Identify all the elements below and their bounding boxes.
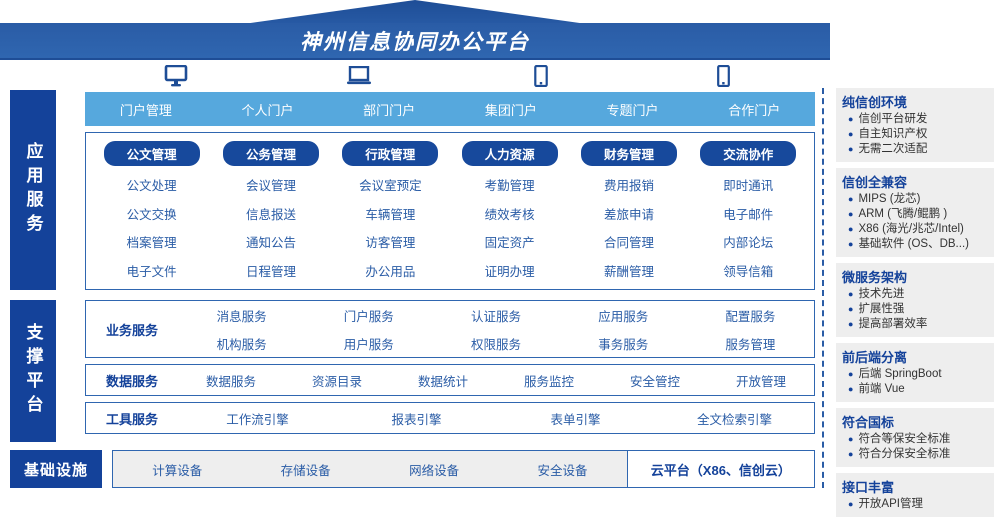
- support-item[interactable]: 开放管理: [708, 371, 814, 390]
- support-data-items: 数据服务资源目录数据统计服务监控安全管控开放管理: [178, 365, 814, 395]
- support-item[interactable]: 认证服务: [432, 306, 559, 325]
- application-column: 会议室预定车辆管理访客管理办公用品: [331, 170, 450, 285]
- sidebar-section: 前后端分离●后端 SpringBoot●前端 Vue: [836, 343, 994, 402]
- sidebar-list-item: ●符合分保安全标准: [842, 447, 988, 462]
- application-item[interactable]: 领导信箱: [689, 261, 808, 280]
- portal-item[interactable]: 个人门户: [207, 100, 329, 119]
- sidebar-item-label: 自主知识产权: [858, 127, 927, 142]
- application-category-pill[interactable]: 公务管理: [223, 141, 319, 166]
- portal-item[interactable]: 合作门户: [693, 100, 815, 119]
- bullet-icon: ●: [848, 142, 853, 157]
- support-item[interactable]: 工作流引擎: [178, 409, 337, 428]
- support-item[interactable]: 数据统计: [390, 371, 496, 390]
- sidebar-list-item: ●MIPS (龙芯): [842, 192, 988, 207]
- support-data-row: 数据服务资源目录数据统计服务监控安全管控开放管理: [178, 365, 814, 395]
- application-column: 考勤管理绩效考核固定资产证明办理: [450, 170, 569, 285]
- support-item[interactable]: 门户服务: [305, 306, 432, 325]
- application-column: 公文处理公文交换档案管理电子文件: [92, 170, 211, 285]
- sidebar-item-label: 扩展性强: [858, 302, 904, 317]
- application-category-pill[interactable]: 财务管理: [581, 141, 677, 166]
- support-item[interactable]: 资源目录: [284, 371, 390, 390]
- sidebar-section-title: 符合国标: [842, 412, 988, 431]
- application-item[interactable]: 内部论坛: [689, 232, 808, 251]
- portal-item[interactable]: 专题门户: [572, 100, 694, 119]
- sidebar-section-title: 前后端分离: [842, 347, 988, 366]
- bullet-icon: ●: [848, 207, 853, 222]
- sidebar-item-label: 技术先进: [858, 287, 904, 302]
- application-item[interactable]: 访客管理: [331, 232, 450, 251]
- sidebar-item-label: X86 (海光/兆芯/Intel): [858, 222, 963, 237]
- sidebar-item-label: 无需二次适配: [858, 142, 927, 157]
- bullet-icon: ●: [848, 367, 853, 382]
- support-item[interactable]: 报表引擎: [337, 409, 496, 428]
- sidebar-section: 信创全兼容●MIPS (龙芯)●ARM (飞腾/鲲鹏 )●X86 (海光/兆芯/…: [836, 168, 994, 257]
- application-item[interactable]: 薪酬管理: [569, 261, 688, 280]
- sidebar-list-item: ●ARM (飞腾/鲲鹏 ): [842, 207, 988, 222]
- sidebar-list-item: ●前端 Vue: [842, 382, 988, 397]
- portal-item[interactable]: 部门门户: [328, 100, 450, 119]
- application-category-pill[interactable]: 行政管理: [342, 141, 438, 166]
- page-title: 神州信息协同办公平台: [0, 23, 830, 58]
- application-column: 会议管理信息报送通知公告日程管理: [211, 170, 330, 285]
- support-item[interactable]: 机构服务: [178, 334, 305, 353]
- infrastructure-cloud-item[interactable]: 云平台（X86、信创云）: [627, 450, 815, 488]
- application-item[interactable]: 日程管理: [211, 261, 330, 280]
- infrastructure-item[interactable]: 计算设备: [113, 451, 241, 487]
- infrastructure-item[interactable]: 安全设备: [498, 451, 626, 487]
- sidebar-section-title: 接口丰富: [842, 477, 988, 496]
- sidebar-section: 接口丰富●开放API管理: [836, 473, 994, 517]
- application-item[interactable]: 费用报销: [569, 175, 688, 194]
- application-item[interactable]: 电子邮件: [689, 204, 808, 223]
- support-tool-items: 工作流引擎报表引擎表单引擎全文检索引擎: [178, 403, 814, 433]
- application-category-cell: 交流协作: [689, 141, 808, 166]
- tablet-icon: [450, 65, 633, 87]
- sidebar-item-label: 信创平台研发: [858, 112, 927, 127]
- application-category-cell: 人力资源: [450, 141, 569, 166]
- sidebar-section: 纯信创环境●信创平台研发●自主知识产权●无需二次适配: [836, 88, 994, 162]
- sidebar-section: 微服务架构●技术先进●扩展性强●提高部署效率: [836, 263, 994, 337]
- application-item[interactable]: 办公用品: [331, 261, 450, 280]
- support-tool-services-row: 工具服务 工作流引擎报表引擎表单引擎全文检索引擎: [85, 402, 815, 434]
- sidebar-item-label: 提高部署效率: [858, 317, 927, 332]
- sidebar-section-title: 微服务架构: [842, 267, 988, 286]
- sidebar-list-item: ●无需二次适配: [842, 142, 988, 157]
- support-business-label: 业务服务: [86, 320, 178, 339]
- portal-item[interactable]: 门户管理: [85, 100, 207, 119]
- support-business-row: 消息服务门户服务认证服务应用服务配置服务: [178, 301, 814, 329]
- bullet-icon: ●: [848, 497, 853, 512]
- desktop-icon: [85, 65, 268, 87]
- support-item[interactable]: 服务监控: [496, 371, 602, 390]
- bullet-icon: ●: [848, 237, 853, 252]
- application-category-pill[interactable]: 公文管理: [104, 141, 200, 166]
- application-category-cell: 公务管理: [211, 141, 330, 166]
- support-tool-row: 工作流引擎报表引擎表单引擎全文检索引擎: [178, 403, 814, 433]
- bullet-icon: ●: [848, 287, 853, 302]
- sidebar-item-label: 开放API管理: [858, 497, 923, 512]
- support-item[interactable]: 表单引擎: [496, 409, 655, 428]
- support-business-row: 机构服务用户服务权限服务事务服务服务管理: [178, 329, 814, 357]
- support-item[interactable]: 配置服务: [687, 306, 814, 325]
- portal-bar: 门户管理个人门户部门门户集团门户专题门户合作门户: [85, 92, 815, 126]
- sidebar-item-label: ARM (飞腾/鲲鹏 ): [858, 207, 947, 222]
- sidebar-list-item: ●提高部署效率: [842, 317, 988, 332]
- application-column: 即时通讯电子邮件内部论坛领导信箱: [689, 170, 808, 285]
- support-item[interactable]: 权限服务: [432, 334, 559, 353]
- application-item[interactable]: 电子文件: [92, 261, 211, 280]
- support-business-items: 消息服务门户服务认证服务应用服务配置服务机构服务用户服务权限服务事务服务服务管理: [178, 301, 814, 357]
- sidebar-list-item: ●信创平台研发: [842, 112, 988, 127]
- sidebar-item-label: 符合等保安全标准: [858, 432, 950, 447]
- application-category-pill[interactable]: 交流协作: [700, 141, 796, 166]
- feature-sidebar: 纯信创环境●信创平台研发●自主知识产权●无需二次适配信创全兼容●MIPS (龙芯…: [836, 88, 994, 523]
- sidebar-list-item: ●扩展性强: [842, 302, 988, 317]
- support-tool-label: 工具服务: [86, 409, 178, 428]
- support-data-services-row: 数据服务 数据服务资源目录数据统计服务监控安全管控开放管理: [85, 364, 815, 396]
- application-item[interactable]: 会议室预定: [331, 175, 450, 194]
- support-item[interactable]: 用户服务: [305, 334, 432, 353]
- rail-application-services: 应用服务: [10, 90, 56, 290]
- application-category-pill[interactable]: 人力资源: [462, 141, 558, 166]
- rail-infrastructure: 基础设施: [10, 450, 102, 488]
- sidebar-item-label: 基础软件 (OS、DB...): [858, 237, 969, 252]
- application-services-panel: 公文管理公务管理行政管理人力资源财务管理交流协作 公文处理公文交换档案管理电子文…: [85, 132, 815, 290]
- application-category-cell: 行政管理: [331, 141, 450, 166]
- sidebar-section-title: 信创全兼容: [842, 172, 988, 191]
- infrastructure-item[interactable]: 网络设备: [370, 451, 498, 487]
- bullet-icon: ●: [848, 317, 853, 332]
- application-item[interactable]: 固定资产: [450, 232, 569, 251]
- bullet-icon: ●: [848, 432, 853, 447]
- application-category-cell: 财务管理: [569, 141, 688, 166]
- application-item[interactable]: 通知公告: [211, 232, 330, 251]
- support-data-label: 数据服务: [86, 371, 178, 390]
- application-item[interactable]: 合同管理: [569, 232, 688, 251]
- support-item[interactable]: 应用服务: [560, 306, 687, 325]
- phone-icon: [633, 65, 816, 87]
- support-item[interactable]: 消息服务: [178, 306, 305, 325]
- application-item[interactable]: 考勤管理: [450, 175, 569, 194]
- bullet-icon: ●: [848, 127, 853, 142]
- application-item[interactable]: 公文处理: [92, 175, 211, 194]
- bullet-icon: ●: [848, 447, 853, 462]
- application-category-cell: 公文管理: [92, 141, 211, 166]
- portal-item[interactable]: 集团门户: [450, 100, 572, 119]
- bullet-icon: ●: [848, 192, 853, 207]
- support-business-services-row: 业务服务 消息服务门户服务认证服务应用服务配置服务机构服务用户服务权限服务事务服…: [85, 300, 815, 358]
- infrastructure-panel: 计算设备存储设备网络设备安全设备云平台（X86、信创云）: [112, 450, 815, 488]
- header-underline: [0, 58, 830, 60]
- sidebar-section-title: 纯信创环境: [842, 92, 988, 111]
- application-item[interactable]: 差旅申请: [569, 204, 688, 223]
- bullet-icon: ●: [848, 302, 853, 317]
- sidebar-item-label: 后端 SpringBoot: [858, 367, 941, 382]
- support-item[interactable]: 事务服务: [560, 334, 687, 353]
- laptop-icon: [268, 66, 451, 86]
- header-banner: 神州信息协同办公平台: [0, 0, 830, 58]
- sidebar-item-label: MIPS (龙芯): [858, 192, 920, 207]
- application-item[interactable]: 即时通讯: [689, 175, 808, 194]
- sidebar-list-item: ●技术先进: [842, 287, 988, 302]
- sidebar-list-item: ●开放API管理: [842, 497, 988, 512]
- support-item[interactable]: 全文检索引擎: [655, 409, 814, 428]
- architecture-diagram: 神州信息协同办公平台 应用服务 支撑平台 基础设施 门户管理个人门户部门门户集团…: [0, 0, 1000, 500]
- application-item[interactable]: 会议管理: [211, 175, 330, 194]
- section-divider: [822, 88, 824, 488]
- bullet-icon: ●: [848, 222, 853, 237]
- bullet-icon: ●: [848, 112, 853, 127]
- application-item[interactable]: 绩效考核: [450, 204, 569, 223]
- sidebar-list-item: ●X86 (海光/兆芯/Intel): [842, 222, 988, 237]
- sidebar-list-item: ●基础软件 (OS、DB...): [842, 237, 988, 252]
- application-item[interactable]: 证明办理: [450, 261, 569, 280]
- application-item[interactable]: 信息报送: [211, 204, 330, 223]
- application-item[interactable]: 档案管理: [92, 232, 211, 251]
- support-item[interactable]: 服务管理: [687, 334, 814, 353]
- bullet-icon: ●: [848, 382, 853, 397]
- sidebar-item-label: 符合分保安全标准: [858, 447, 950, 462]
- application-item-grid: 公文处理公文交换档案管理电子文件会议管理信息报送通知公告日程管理会议室预定车辆管…: [92, 170, 808, 285]
- application-item[interactable]: 公文交换: [92, 204, 211, 223]
- application-column: 费用报销差旅申请合同管理薪酬管理: [569, 170, 688, 285]
- sidebar-item-label: 前端 Vue: [858, 382, 904, 397]
- sidebar-section: 符合国标●符合等保安全标准●符合分保安全标准: [836, 408, 994, 467]
- application-item[interactable]: 车辆管理: [331, 204, 450, 223]
- infrastructure-item[interactable]: 存储设备: [241, 451, 369, 487]
- rail-support-platform: 支撑平台: [10, 300, 56, 442]
- sidebar-list-item: ●后端 SpringBoot: [842, 367, 988, 382]
- sidebar-list-item: ●符合等保安全标准: [842, 432, 988, 447]
- sidebar-list-item: ●自主知识产权: [842, 127, 988, 142]
- support-item[interactable]: 安全管控: [602, 371, 708, 390]
- support-item[interactable]: 数据服务: [178, 371, 284, 390]
- application-category-row: 公文管理公务管理行政管理人力资源财务管理交流协作: [92, 141, 808, 166]
- device-icon-row: [85, 62, 815, 90]
